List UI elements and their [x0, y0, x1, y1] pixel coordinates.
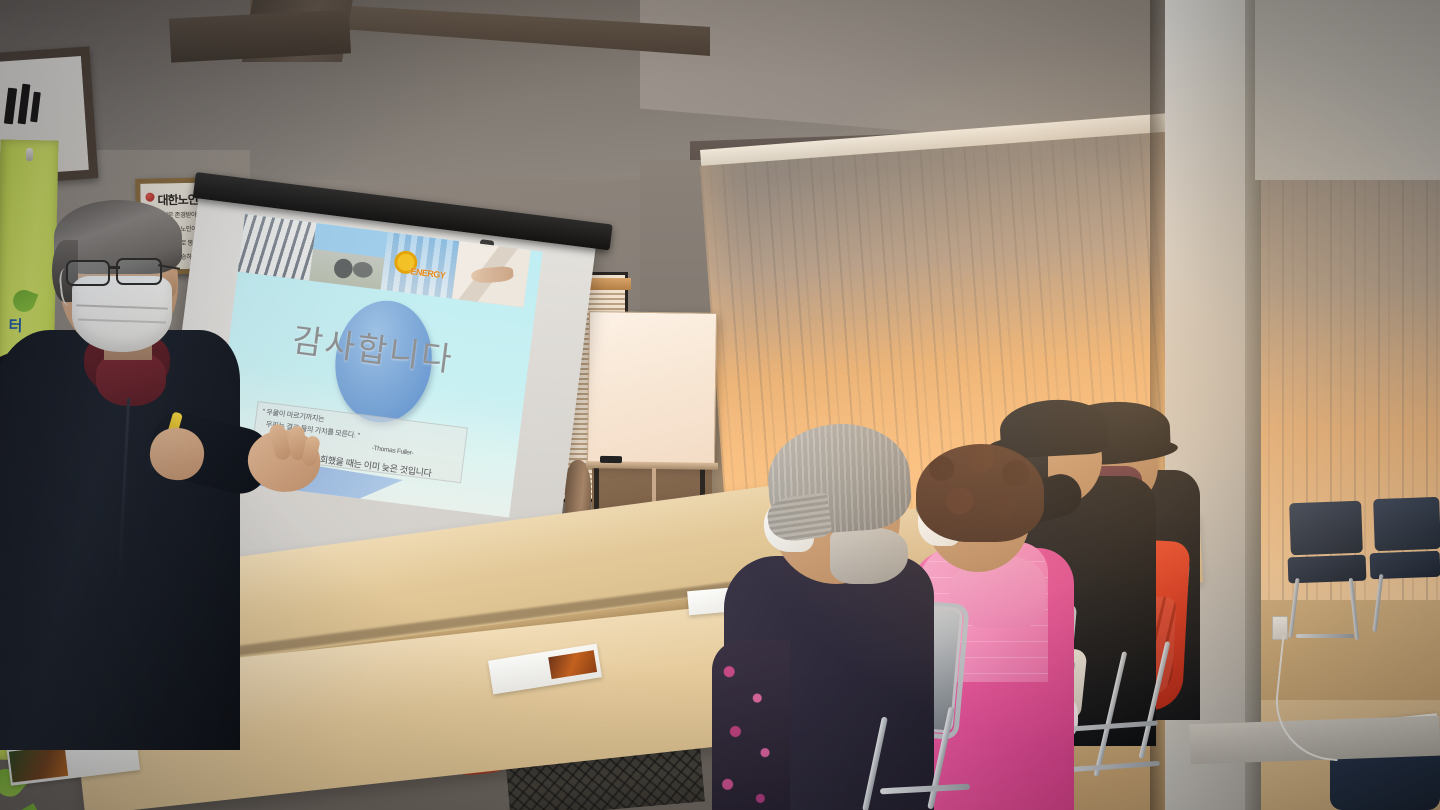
- handshake-icon: [452, 241, 531, 308]
- whiteboard: [587, 311, 717, 465]
- solar-panel-array-icon: [238, 214, 317, 281]
- presenter-glasses-left-lens: [66, 260, 110, 286]
- quote-attribution: -Thomas Fuller-: [371, 445, 414, 457]
- energy-word: ENERGY: [410, 267, 446, 281]
- leaf-icon: [11, 803, 44, 810]
- whiteboard-marker: [600, 456, 622, 463]
- presenter-glasses-right-lens: [116, 258, 162, 285]
- korea-flag-icon: [145, 193, 154, 202]
- presenter-face-mask: [72, 276, 172, 352]
- brochure-photo: [548, 650, 597, 679]
- banner-hook: [26, 148, 33, 161]
- chair-backrest: [1289, 501, 1363, 555]
- brochure-photo: [9, 745, 68, 783]
- presenter-sweater: [96, 352, 166, 406]
- chair-backrest: [1373, 497, 1440, 551]
- solar-dish-field-icon: [309, 223, 388, 290]
- ceiling-beam-short: [169, 9, 351, 62]
- banner-text-top: 터: [8, 315, 21, 336]
- glasses-bridge: [108, 266, 120, 269]
- leaf-icon: [10, 287, 38, 315]
- photo-scene: 터 을 리 1.17 동 대한노인회 1노인은 존경받아야 한다 2지혜로운 노…: [0, 0, 1440, 810]
- attendee-gray-beanie-hair: [830, 528, 908, 584]
- wall-far-right: [1255, 0, 1440, 180]
- attendee-pink-puffer-hair: [916, 444, 1044, 542]
- floral-blouse: [712, 640, 790, 810]
- sunflower-energy-icon: ENERGY: [381, 232, 460, 299]
